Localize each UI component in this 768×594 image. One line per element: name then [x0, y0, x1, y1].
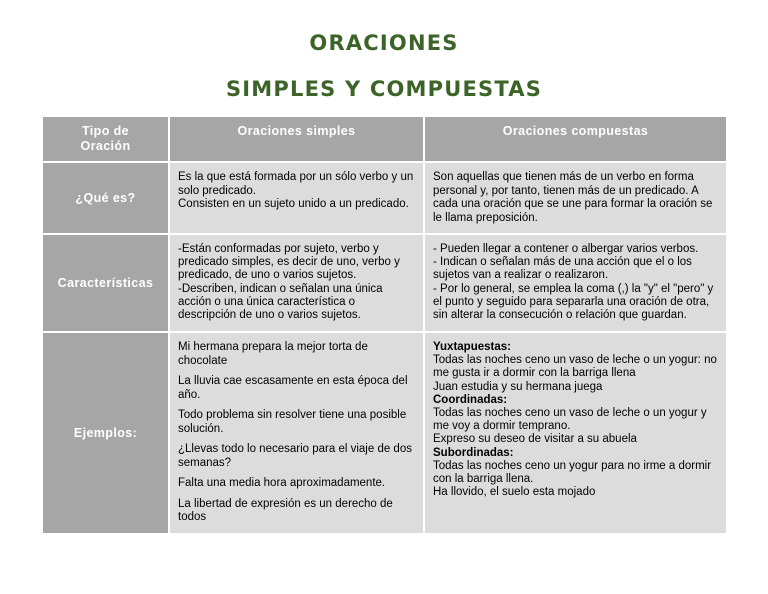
- table-row: Características -Están conformadas por s…: [43, 235, 726, 331]
- example-line: Todas las noches ceno un yogur para no i…: [433, 460, 717, 486]
- comparison-table: Tipo de Oración Oraciones simples Oracio…: [41, 115, 728, 535]
- text-line: Consisten en un sujeto unido a un predic…: [178, 198, 414, 212]
- example-line: Todas las noches ceno un vaso de leche o…: [433, 354, 717, 380]
- example-line: Todas las noches ceno un vaso de leche o…: [433, 407, 717, 433]
- text-line: - Por lo general, se emplea la coma (,) …: [433, 283, 717, 323]
- example-line: Juan estudia y su hermana juega: [433, 381, 717, 394]
- document-page: ORACIONES SIMPLES Y COMPUESTAS Tipo de O…: [0, 0, 768, 594]
- column-header-tipo-line2: Oración: [43, 139, 168, 154]
- row-label-ejemplos: Ejemplos:: [43, 333, 168, 533]
- text-line: - Indican o señalan más de una acción qu…: [433, 256, 717, 282]
- example-group-heading: Yuxtapuestas:: [433, 341, 717, 354]
- column-header-simple-label: Oraciones simples: [170, 124, 423, 139]
- cell-que-es-simple: Es la que está formada por un sólo verbo…: [170, 163, 423, 233]
- table-header: Tipo de Oración Oraciones simples Oracio…: [43, 117, 726, 161]
- document-title-block: ORACIONES SIMPLES Y COMPUESTAS: [0, 30, 768, 102]
- example-group-heading: Subordinadas:: [433, 447, 717, 460]
- example-line: La libertad de expresión es un derecho d…: [178, 498, 414, 525]
- column-header-tipo-de-oracion: Tipo de Oración: [43, 117, 168, 161]
- example-line: ¿Llevas todo lo necesario para el viaje …: [178, 443, 414, 470]
- example-line: Todo problema sin resolver tiene una pos…: [178, 409, 414, 436]
- cell-caracteristicas-compuesta: - Pueden llegar a contener o albergar va…: [425, 235, 726, 331]
- example-line: Ha llovido, el suelo esta mojado: [433, 486, 717, 499]
- text-line: -Describen, indican o señalan una única …: [178, 283, 414, 323]
- cell-que-es-compuesta: Son aquellas que tienen más de un verbo …: [425, 163, 726, 233]
- text-line: - Pueden llegar a contener o albergar va…: [433, 243, 717, 256]
- page-title-line-1: ORACIONES: [0, 30, 768, 56]
- table-row: Ejemplos: Mi hermana prepara la mejor to…: [43, 333, 726, 533]
- example-line: Falta una media hora aproximadamente.: [178, 477, 414, 491]
- cell-ejemplos-simple: Mi hermana prepara la mejor torta de cho…: [170, 333, 423, 533]
- example-line: Expreso su deseo de visitar a su abuela: [433, 433, 717, 446]
- comparison-table-wrapper: Tipo de Oración Oraciones simples Oracio…: [41, 115, 728, 535]
- table-body: ¿Qué es? Es la que está formada por un s…: [43, 163, 726, 533]
- table-header-row: Tipo de Oración Oraciones simples Oracio…: [43, 117, 726, 161]
- table-row: ¿Qué es? Es la que está formada por un s…: [43, 163, 726, 233]
- column-header-tipo-line1: Tipo de: [43, 124, 168, 139]
- row-label-caracteristicas: Características: [43, 235, 168, 331]
- cell-ejemplos-compuesta: Yuxtapuestas: Todas las noches ceno un v…: [425, 333, 726, 533]
- example-line: Mi hermana prepara la mejor torta de cho…: [178, 341, 414, 368]
- text-line: Es la que está formada por un sólo verbo…: [178, 171, 414, 198]
- row-label-que-es: ¿Qué es?: [43, 163, 168, 233]
- page-title-line-2: SIMPLES Y COMPUESTAS: [0, 76, 768, 102]
- column-header-oraciones-simples: Oraciones simples: [170, 117, 423, 161]
- cell-caracteristicas-simple: -Están conformadas por sujeto, verbo y p…: [170, 235, 423, 331]
- example-line: La lluvia cae escasamente en esta época …: [178, 375, 414, 402]
- example-group-heading: Coordinadas:: [433, 394, 717, 407]
- column-header-oraciones-compuestas: Oraciones compuestas: [425, 117, 726, 161]
- column-header-compound-label: Oraciones compuestas: [425, 124, 726, 139]
- text-line: Son aquellas que tienen más de un verbo …: [433, 171, 717, 225]
- text-line: -Están conformadas por sujeto, verbo y p…: [178, 243, 414, 283]
